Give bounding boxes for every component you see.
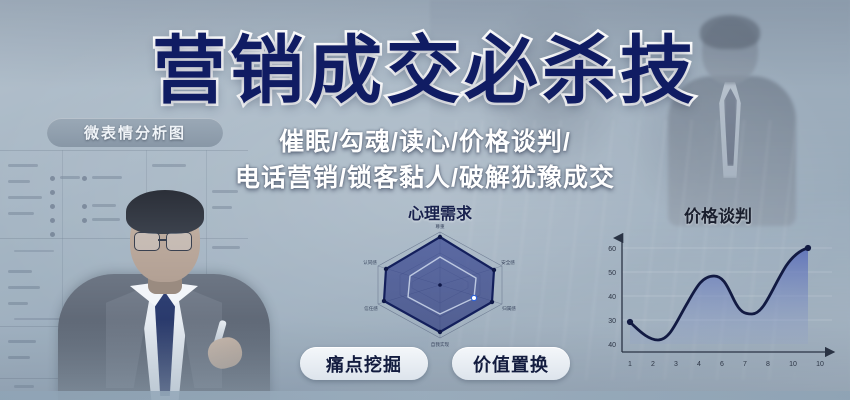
line-chart-xtick-7: 10	[789, 361, 797, 368]
line-chart: 价格谈判	[596, 200, 840, 380]
presenter-fade-overlay	[58, 188, 270, 400]
radar-axis-label-5: 认同感	[363, 259, 377, 266]
line-chart-point-end	[805, 245, 811, 251]
line-chart-svg: 60 50 40 30 40 1 2 3 4 6 7 8 10 10	[596, 226, 840, 376]
line-chart-xtick-5: 7	[743, 361, 747, 368]
bottom-color-strip	[0, 391, 850, 400]
line-chart-xtick-3: 4	[697, 361, 701, 368]
radar-axis-label-4: 信任感	[364, 305, 378, 312]
radar-chart-title: 心理需求	[330, 200, 550, 224]
subtitle-line-2: 电话营销/锁客黏人/破解犹豫成交	[0, 158, 850, 194]
line-chart-ytick-1: 50	[608, 270, 616, 277]
radar-axis-label-1: 安全感	[501, 259, 515, 266]
line-chart-ytick-4: 40	[608, 342, 616, 349]
line-chart-ytick-3: 30	[608, 318, 616, 325]
line-chart-xtick-2: 3	[674, 361, 678, 368]
presenter-figure	[58, 188, 270, 400]
subtitle-line-1: 催眠/勾魂/读心/价格谈判/	[0, 122, 850, 158]
pill-pain-point-mining[interactable]: 痛点挖掘	[300, 347, 428, 380]
radar-axis-label-3: 自我实现	[431, 341, 450, 348]
line-chart-xtick-4: 6	[720, 361, 724, 368]
marketing-banner: 微表情分析图 营销成交必杀技 催眠/勾魂/读心/价格谈判/ 电话营销/锁客黏人/…	[0, 0, 850, 400]
line-chart-xtick-0: 1	[628, 361, 632, 368]
line-chart-title: 价格谈判	[596, 202, 840, 227]
line-chart-xtick-1: 2	[651, 361, 655, 368]
pill-value-exchange[interactable]: 价值置换	[452, 347, 570, 380]
line-chart-xtick-8: 10	[816, 361, 824, 368]
radar-axis-label-0: 尊重	[435, 223, 445, 230]
line-chart-ytick-0: 60	[608, 246, 616, 253]
line-chart-point-start	[627, 319, 633, 325]
line-chart-ytick-2: 40	[608, 294, 616, 301]
radar-chart-svg: 尊重 安全感 归属感 自我实现 信任感 认同感	[358, 222, 522, 348]
radar-highlight-point	[471, 295, 476, 300]
line-chart-xtick-6: 8	[766, 361, 770, 368]
radar-axis-label-2: 归属感	[502, 305, 516, 312]
page-title: 营销成交必杀技	[0, 34, 850, 108]
radar-chart: 心理需求	[330, 200, 550, 350]
